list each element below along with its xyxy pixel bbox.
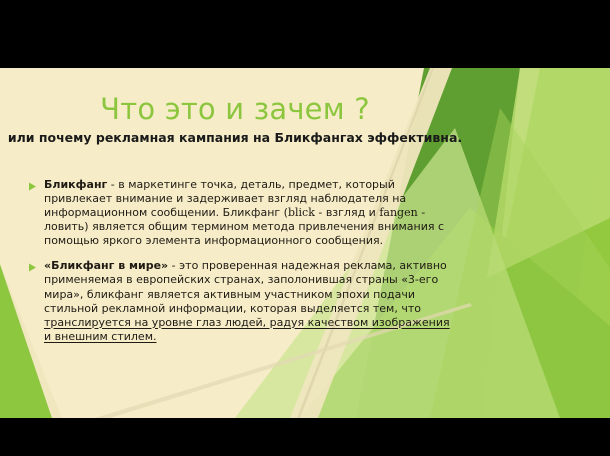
list-item-text: Бликфанг - в маркетинге точка, деталь, п…: [44, 178, 453, 248]
title-block: Что это и зачем ? или почему рекламная к…: [0, 94, 470, 145]
bullet-2-underlined-tail: транслируется на уровне глаз людей, раду…: [44, 316, 450, 343]
page-title: Что это и зачем ?: [0, 94, 470, 124]
slide-stage: Что это и зачем ? или почему рекламная к…: [0, 0, 610, 456]
slide-canvas: Что это и зачем ? или почему рекламная к…: [0, 68, 610, 418]
bullet-1-latin-1: blick: [288, 206, 315, 219]
letterbox-bottom: [0, 418, 610, 456]
slide-content: Что это и зачем ? или почему рекламная к…: [0, 68, 610, 418]
bullet-2-lead: «Бликфанг в мире»: [44, 259, 168, 272]
letterbox-top: [0, 0, 610, 68]
triangle-right-bullet-icon: [28, 178, 44, 191]
list-item: «Бликфанг в мире» - это проверенная наде…: [28, 259, 453, 343]
slide-subtitle: или почему рекламная кампания на Бликфан…: [0, 130, 470, 145]
list-item: Бликфанг - в маркетинге точка, деталь, п…: [28, 178, 453, 248]
bullet-1-part-2: - взгляд и: [315, 206, 379, 219]
bullet-1-latin-2: fangen: [379, 206, 417, 219]
bullet-1-lead: Бликфанг: [44, 178, 107, 191]
list-item-text: «Бликфанг в мире» - это проверенная наде…: [44, 259, 453, 343]
bullet-list: Бликфанг - в маркетинге точка, деталь, п…: [28, 178, 453, 355]
triangle-right-bullet-icon: [28, 259, 44, 272]
